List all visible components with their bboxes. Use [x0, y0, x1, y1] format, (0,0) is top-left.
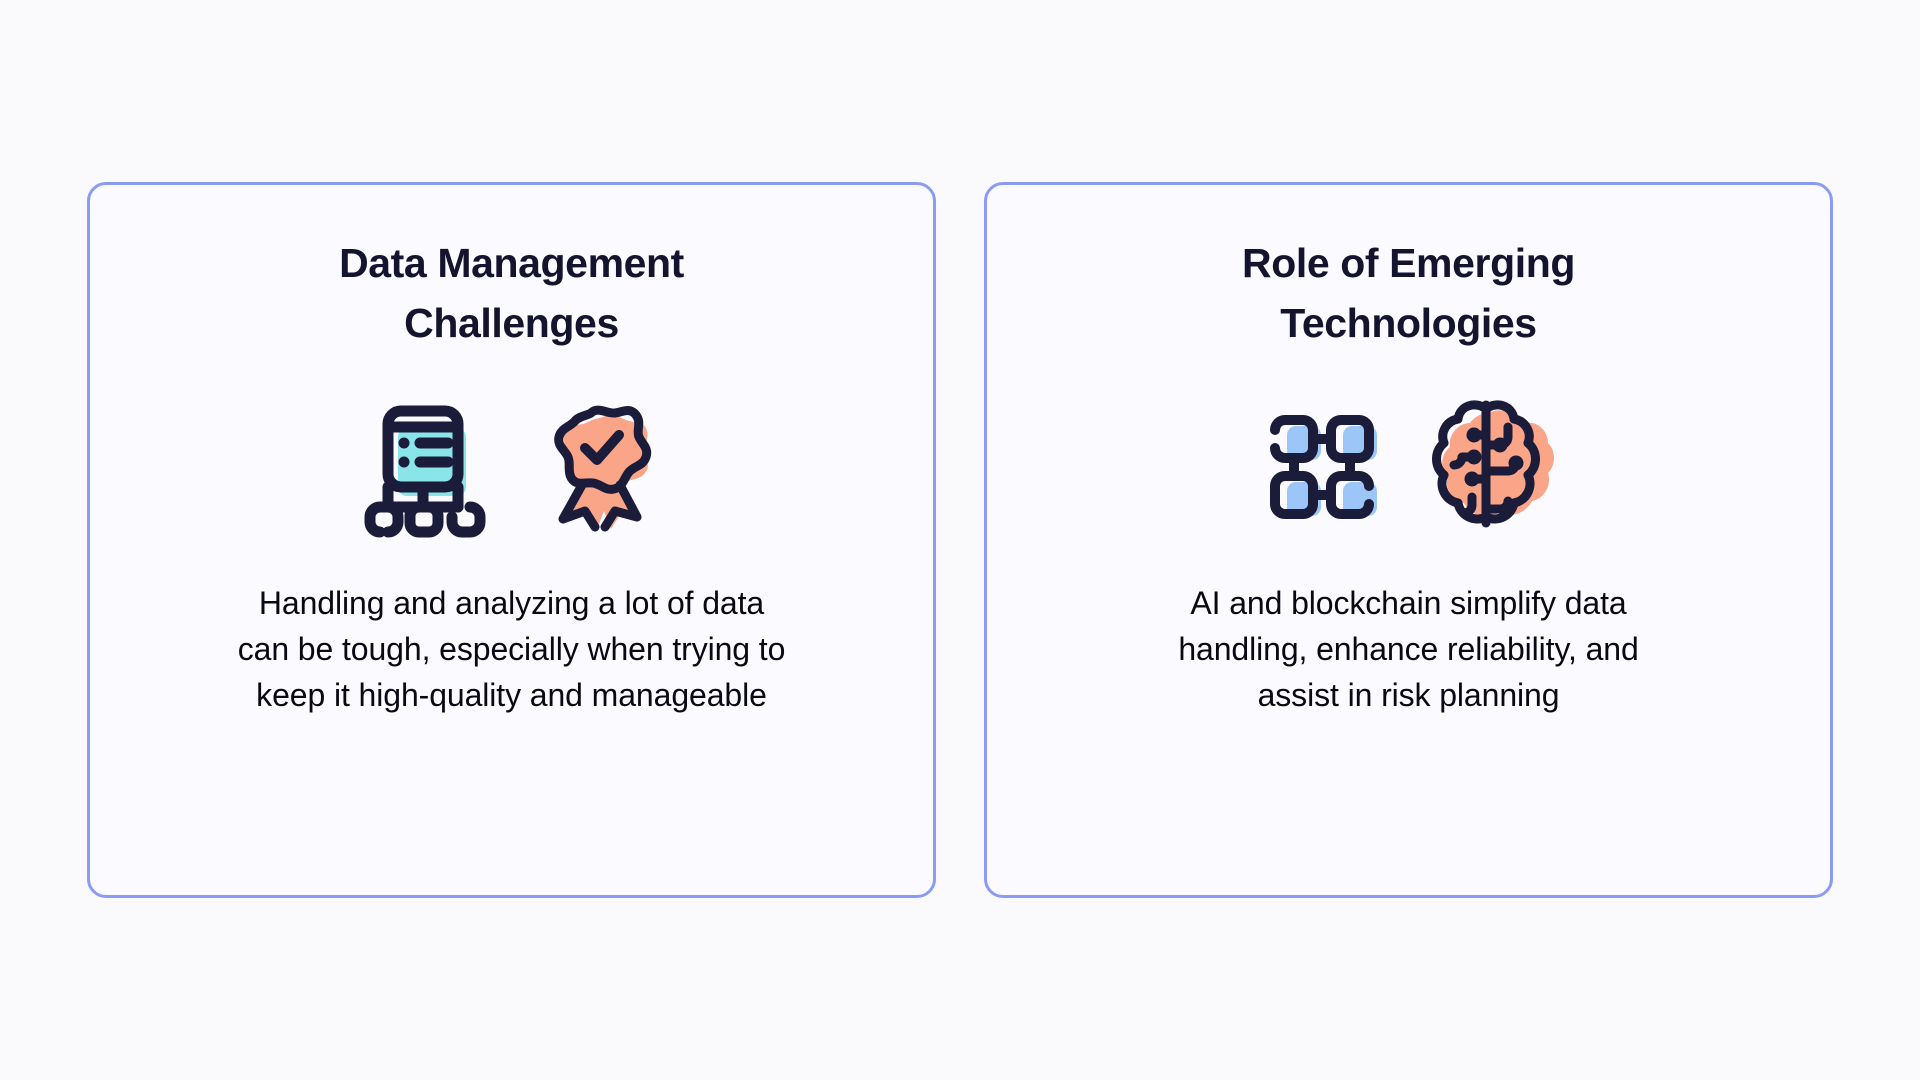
card-title-line-1: Role of Emerging: [1242, 240, 1575, 286]
card-body-line-3: keep it high-quality and manageable: [256, 677, 767, 713]
card-title-line-2: Technologies: [1280, 300, 1536, 346]
card-body-line-1: AI and blockchain simplify data: [1190, 585, 1626, 621]
card-title: Data Management Challenges: [339, 233, 684, 354]
card-role-of-emerging-technologies[interactable]: Role of Emerging Technologies: [984, 182, 1833, 898]
card-body-line-3: assist in risk planning: [1258, 677, 1560, 713]
card-body: Handling and analyzing a lot of data can…: [238, 580, 786, 718]
card-title-line-2: Challenges: [404, 300, 619, 346]
card-icon-row: [1249, 382, 1569, 552]
infographic-canvas: Data Management Challenges: [0, 0, 1920, 1080]
card-data-management-challenges[interactable]: Data Management Challenges: [87, 182, 936, 898]
card-body-line-2: can be tough, especially when trying to: [238, 631, 786, 667]
card-body-line-2: handling, enhance reliability, and: [1178, 631, 1638, 667]
ai-brain-icon: [1419, 392, 1569, 542]
quality-badge-check-icon: [525, 392, 675, 542]
data-server-network-icon: [349, 392, 499, 542]
card-icon-row: [349, 382, 675, 552]
card-title: Role of Emerging Technologies: [1242, 233, 1575, 354]
blockchain-nodes-icon: [1249, 392, 1399, 542]
card-body-line-1: Handling and analyzing a lot of data: [259, 585, 764, 621]
card-body: AI and blockchain simplify data handling…: [1178, 580, 1638, 718]
card-title-line-1: Data Management: [339, 240, 684, 286]
